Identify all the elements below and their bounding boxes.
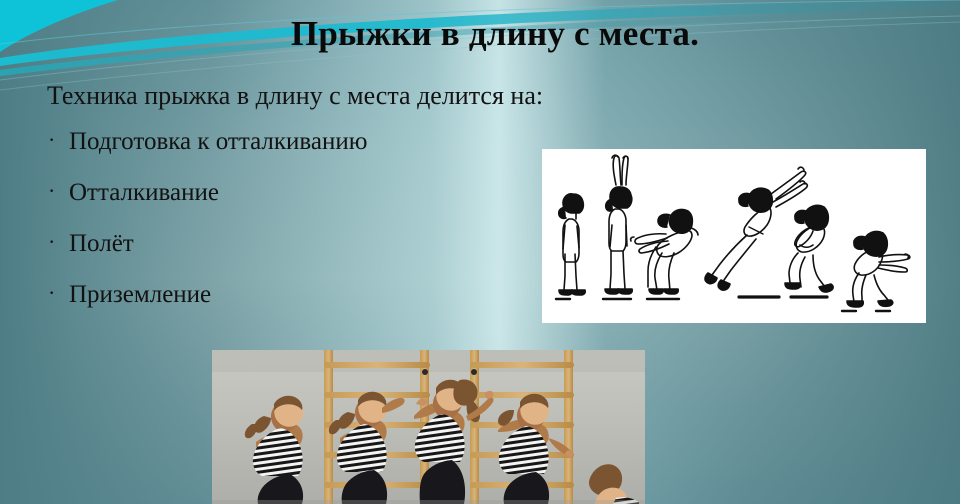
list-item-label: Приземление xyxy=(69,281,211,308)
slide-canvas: Прыжки в длину с места. Техника прыжка в… xyxy=(0,0,960,504)
page-title: Прыжки в длину с места. xyxy=(0,14,960,54)
intro-text: Техника прыжка в длину с места делится н… xyxy=(47,80,543,112)
list-item: · Приземление xyxy=(44,281,367,308)
list-item: · Подготовка к отталкиванию xyxy=(44,128,367,155)
list-item-label: Подготовка к отталкиванию xyxy=(69,128,367,155)
list-item-label: Отталкивание xyxy=(69,179,219,206)
bullet-dot-icon: · xyxy=(48,126,55,153)
list-item: · Отталкивание xyxy=(44,179,367,206)
bullet-dot-icon: · xyxy=(48,228,55,255)
bullet-dot-icon: · xyxy=(48,279,55,306)
jump-phases-illustration xyxy=(542,149,926,323)
list-item-label: Полёт xyxy=(69,230,134,257)
gym-jump-photo xyxy=(212,350,645,504)
bullet-dot-icon: · xyxy=(48,177,55,204)
list-item: · Полёт xyxy=(44,230,367,257)
phases-list: · Подготовка к отталкиванию · Отталкиван… xyxy=(44,128,367,332)
